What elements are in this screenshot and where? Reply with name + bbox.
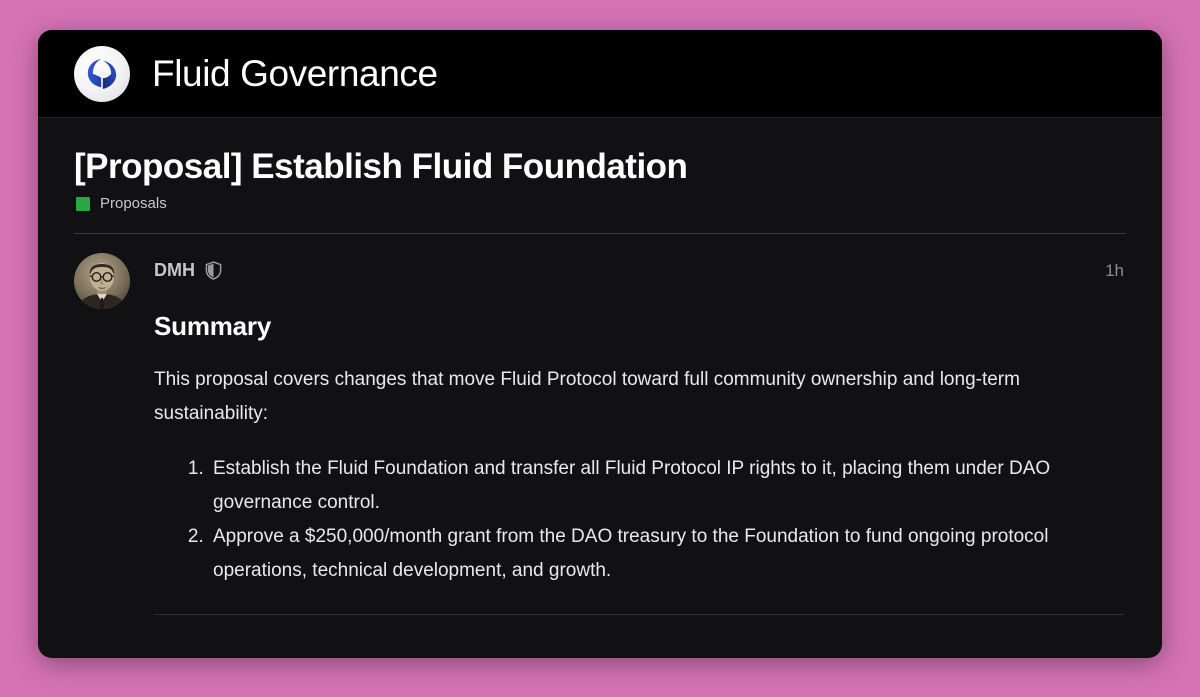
list-item: Establish the Fluid Foundation and trans… [209,452,1126,520]
category-badge[interactable]: Proposals [76,196,1126,211]
page-title: [Proposal] Establish Fluid Foundation [74,118,1126,187]
avatar[interactable] [74,253,130,309]
post-timestamp: 1h [1105,262,1126,279]
topic-container: [Proposal] Establish Fluid Foundation Pr… [38,118,1162,657]
post-divider [154,614,1124,615]
site-header: Fluid Governance [38,30,1162,118]
post-heading: Summary [154,312,1126,341]
shield-icon[interactable] [205,261,222,280]
post-list: Establish the Fluid Foundation and trans… [154,452,1126,587]
list-item: Approve a $250,000/month grant from the … [209,520,1126,588]
category-label[interactable]: Proposals [100,196,167,211]
post-main: DMH 1h Summary This proposal covers chan… [154,253,1126,614]
post-paragraph: This proposal covers changes that move F… [154,363,1069,431]
site-title[interactable]: Fluid Governance [152,55,438,92]
post-author[interactable]: DMH [154,261,195,279]
post-meta: DMH 1h [154,259,1126,281]
fluid-logo-icon[interactable] [74,46,130,102]
category-color-swatch [76,197,90,211]
forum-card: Fluid Governance [Proposal] Establish Fl… [38,30,1162,658]
post: DMH 1h Summary This proposal covers chan… [74,234,1126,614]
page-backdrop: Fluid Governance [Proposal] Establish Fl… [0,0,1200,697]
